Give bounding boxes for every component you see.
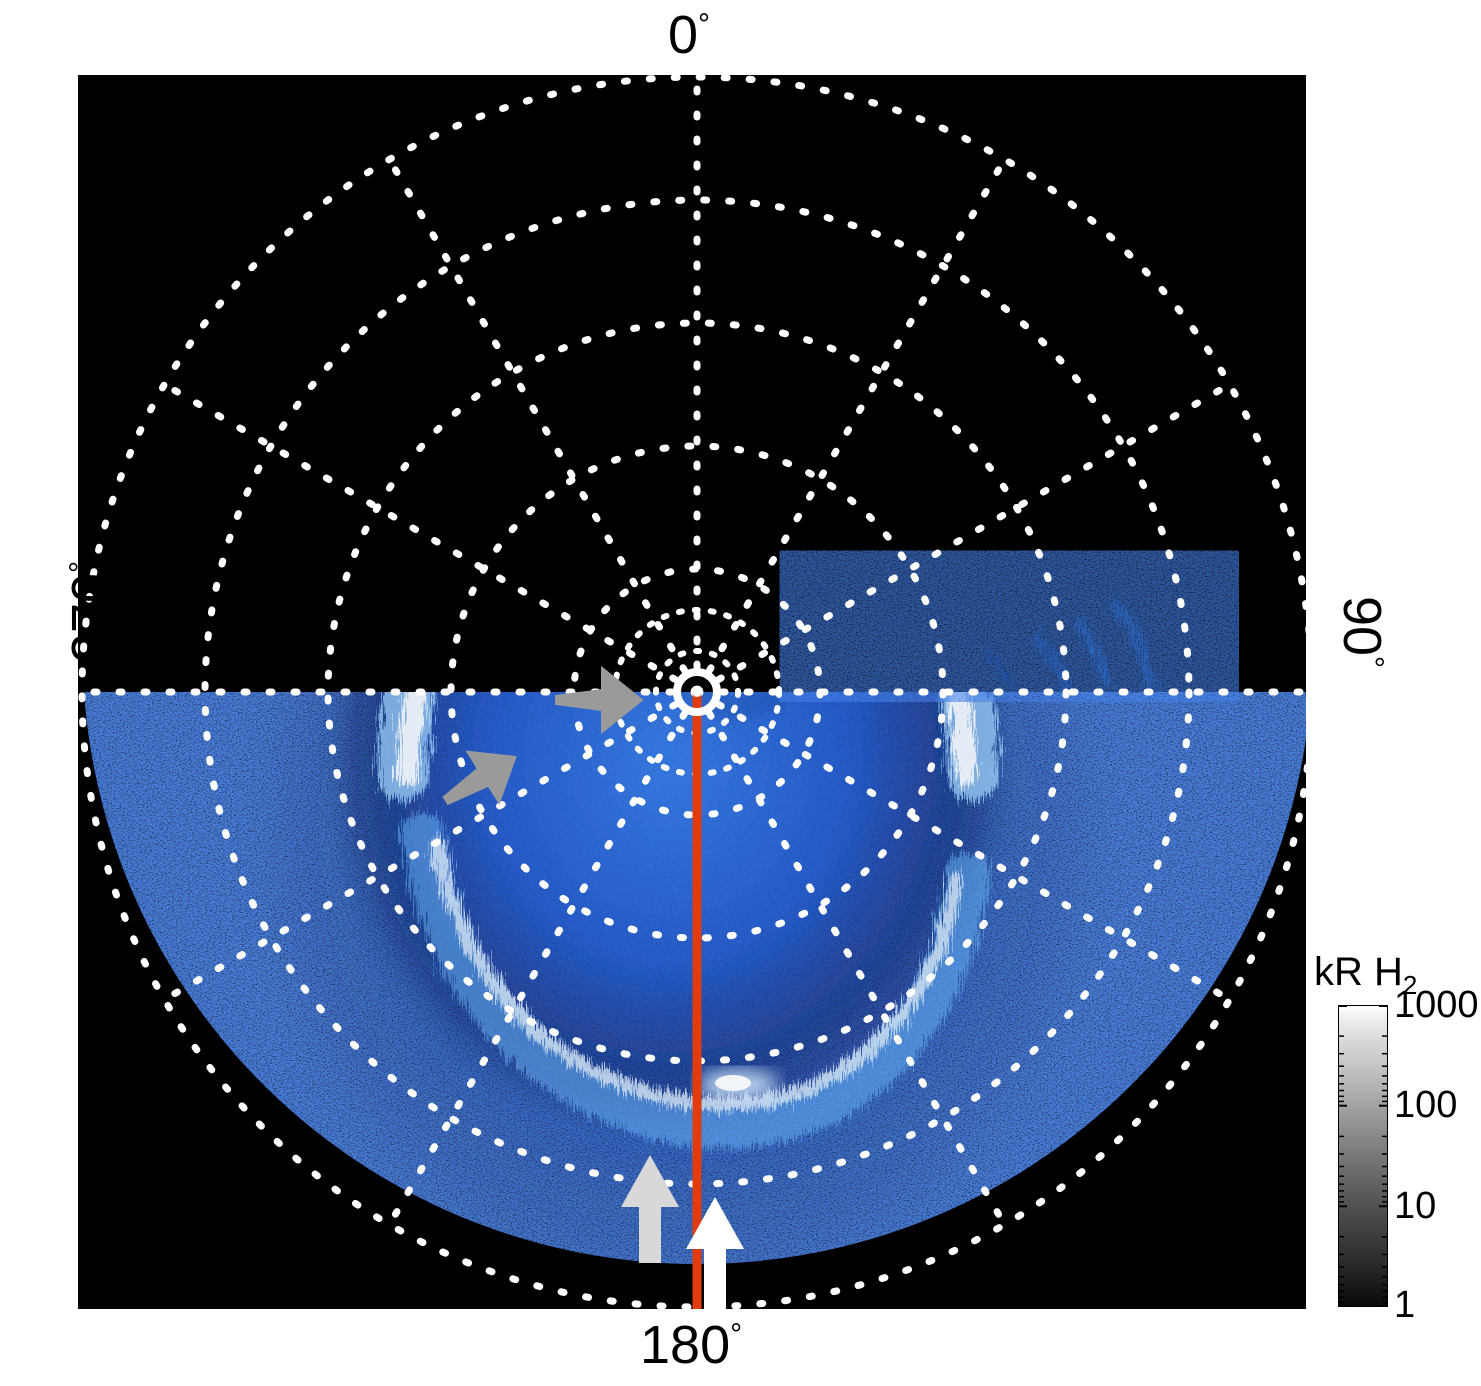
axis-label-90deg: 90° xyxy=(1335,532,1389,732)
polar-aurora-figure: 0° 180° 270° 90° kR H2 xyxy=(0,0,1481,1386)
axis-label-270deg: 270° xyxy=(64,512,118,712)
degree-symbol-left: ° xyxy=(64,561,97,573)
polar-projection-svg xyxy=(78,75,1306,1309)
degree-symbol-right: ° xyxy=(1356,656,1389,668)
colorbar-tick-label-1000: 1000 xyxy=(1394,986,1479,1024)
degree-symbol-bottom: ° xyxy=(730,1318,742,1351)
axis-label-180deg: 180° xyxy=(640,1318,742,1372)
axis-label-0deg: 0° xyxy=(668,8,710,62)
colorbar-tick-label-10: 10 xyxy=(1394,1187,1436,1225)
colorbar-tick-label-100: 100 xyxy=(1394,1086,1457,1124)
colorbar-tick-label-1: 1 xyxy=(1394,1286,1415,1324)
colorbar-ticks xyxy=(1338,1005,1388,1307)
polar-plot-panel xyxy=(78,75,1306,1309)
colorbar: kR H2 xyxy=(1314,950,1481,1320)
degree-symbol-top: ° xyxy=(698,8,710,41)
